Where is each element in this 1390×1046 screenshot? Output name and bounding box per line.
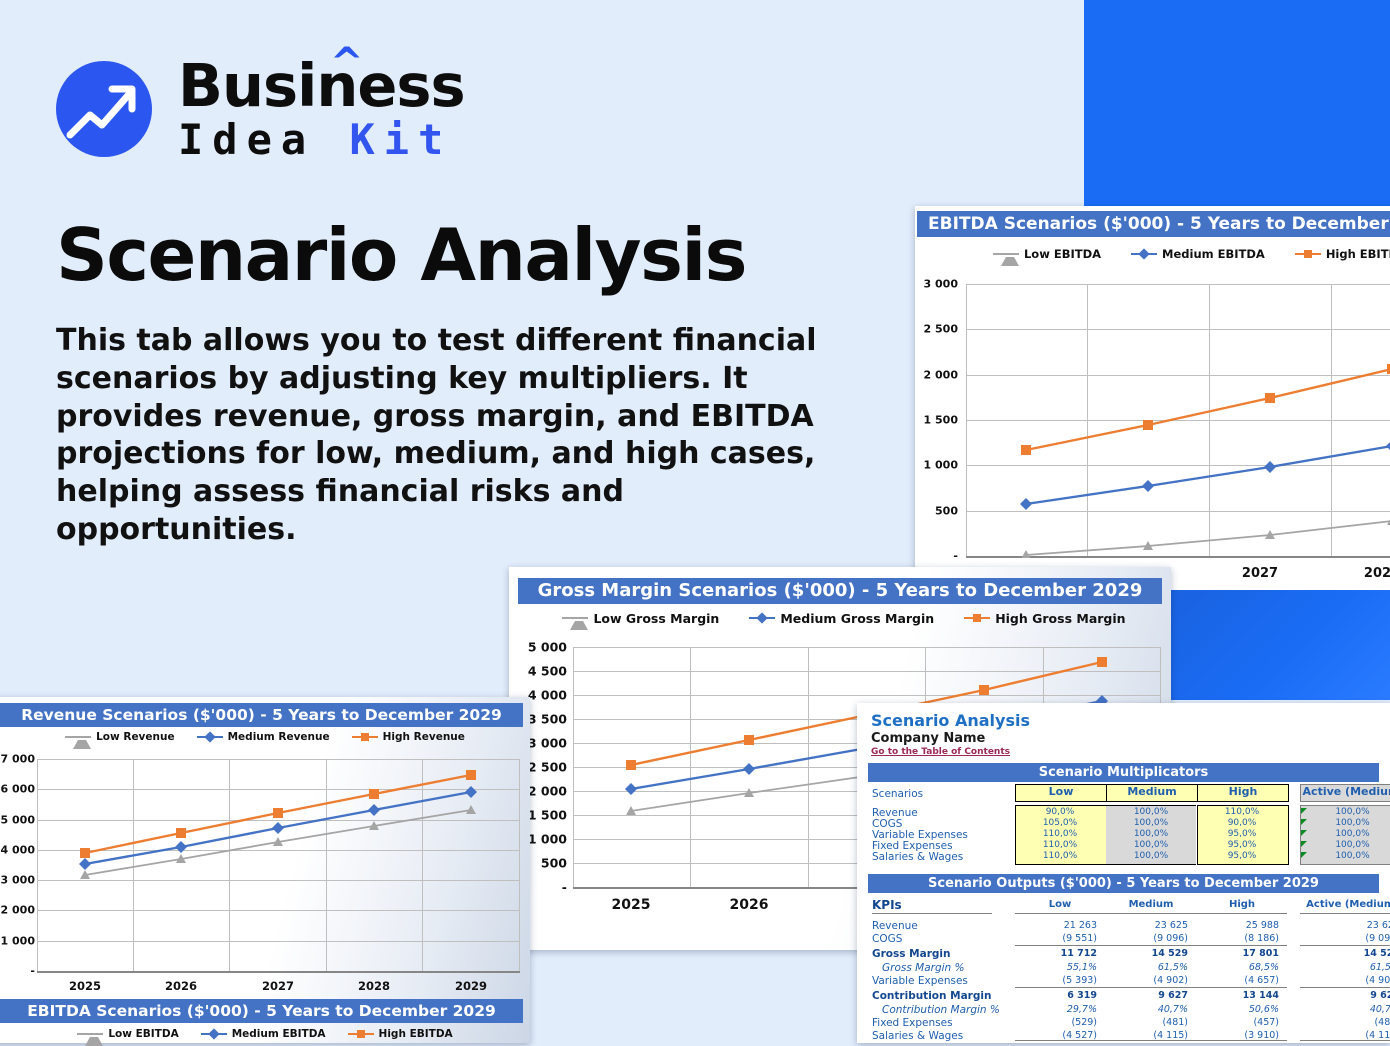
output-fixed-expenses-active: (481) — [1300, 1017, 1390, 1028]
legend-item-medium-ebitda: Medium EBITDA — [1131, 247, 1265, 261]
output-cogs-high: (8 186) — [1197, 933, 1279, 944]
multiplicator-fixedexp-low[interactable]: 110,0% — [1015, 840, 1105, 850]
revenue-chart-plot — [37, 759, 520, 973]
output-gross-margin-pct-medium: 61,5% — [1106, 962, 1188, 973]
revenue-chart-card: Revenue Scenarios ($'000) - 5 Years to D… — [0, 697, 530, 1043]
brand-name-line2: Idea — [178, 115, 315, 164]
scenario-analysis-panel: Scenario Analysis Company Name Go to the… — [857, 703, 1390, 1043]
output-row-contribution-margin-label: Contribution Margin — [872, 990, 991, 1002]
output-variable-expenses-active: (4 902) — [1300, 975, 1390, 986]
output-salaries-low: (4 527) — [1015, 1030, 1097, 1041]
medium-series-marker-icon — [197, 732, 223, 742]
high-series-marker-icon — [964, 613, 990, 623]
high-series-marker-icon — [352, 732, 378, 742]
company-name: Company Name — [871, 731, 985, 746]
legend-item-low-ebitda: Low EBITDA — [77, 1028, 178, 1040]
multiplicator-cogs-high[interactable]: 90,0% — [1197, 818, 1287, 828]
multiplicator-col-medium[interactable]: Medium — [1106, 784, 1198, 802]
medium-series-marker-icon — [749, 613, 775, 623]
multiplicator-cogs-active[interactable]: 100,0% — [1300, 818, 1390, 828]
outputs-col-high: High — [1197, 899, 1287, 910]
outputs-col-active: Active (Medium) — [1300, 899, 1390, 910]
output-row-gross-margin-pct-label: Gross Margin % — [872, 962, 965, 974]
revenue-chart-legend: Low Revenue Medium Revenue High Revenue — [80, 728, 450, 746]
legend-item-medium-revenue: Medium Revenue — [197, 731, 330, 743]
multiplicator-salaries-low[interactable]: 110,0% — [1015, 851, 1105, 861]
legend-item-low-gross-margin: Low Gross Margin — [562, 611, 719, 626]
multiplicator-salaries-active[interactable]: 100,0% — [1300, 851, 1390, 861]
high-series-marker-icon — [1295, 249, 1321, 259]
output-gross-margin-pct-high: 68,5% — [1197, 962, 1279, 973]
decorative-blue-block-mid — [1170, 590, 1390, 700]
growth-arrow-icon — [56, 61, 152, 157]
active-flag-icon — [1301, 808, 1307, 814]
output-row-revenue-label: Revenue — [872, 920, 918, 932]
outputs-col-low: Low — [1015, 899, 1105, 910]
active-flag-icon — [1301, 819, 1307, 825]
output-contribution-margin-medium: 9 627 — [1106, 990, 1188, 1001]
output-variable-expenses-medium: (4 902) — [1106, 975, 1188, 986]
output-gross-margin-low: 11 712 — [1015, 948, 1097, 959]
multiplicator-revenue-medium[interactable]: 100,0% — [1106, 807, 1196, 817]
outputs-row-header: KPIs — [872, 898, 902, 912]
high-series-marker-icon — [348, 1029, 374, 1039]
output-salaries-active: (4 115) — [1300, 1030, 1390, 1041]
output-row-cogs-label: COGS — [872, 933, 902, 945]
multiplicator-fixedexp-medium[interactable]: 100,0% — [1106, 840, 1196, 850]
active-flag-icon — [1301, 841, 1307, 847]
legend-item-low-revenue: Low Revenue — [65, 731, 175, 743]
multiplicator-col-low[interactable]: Low — [1015, 784, 1107, 802]
legend-item-high-ebitda: High EBITDA — [348, 1028, 453, 1040]
output-row-salaries-label: Salaries & Wages — [872, 1030, 963, 1042]
output-row-fixed-expenses-label: Fixed Expenses — [872, 1017, 953, 1029]
output-contribution-margin-pct-high: 50,6% — [1197, 1004, 1279, 1015]
ebitda-chart-top-y-axis: 3 000 2 500 2 000 1 500 1 000 500 - — [915, 284, 958, 556]
output-contribution-margin-active: 9 627 — [1300, 990, 1390, 1001]
scenario-panel-heading: Scenario Analysis — [871, 711, 1030, 730]
output-gross-margin-pct-low: 55,1% — [1015, 962, 1097, 973]
output-variable-expenses-high: (4 657) — [1197, 975, 1279, 986]
output-fixed-expenses-high: (457) — [1197, 1017, 1279, 1028]
medium-series-marker-icon — [1131, 249, 1157, 259]
ebitda-chart-top-legend: Low EBITDA Medium EBITDA High EBITDA — [965, 244, 1390, 264]
low-series-marker-icon — [562, 613, 588, 623]
output-fixed-expenses-medium: (481) — [1106, 1017, 1188, 1028]
brand-hat-accent: ^ — [330, 43, 363, 83]
multiplicator-varexp-high[interactable]: 95,0% — [1197, 829, 1287, 839]
output-contribution-margin-pct-active: 40,7% — [1300, 1004, 1390, 1015]
output-cogs-low: (9 551) — [1015, 933, 1097, 944]
legend-item-high-gross-margin: High Gross Margin — [964, 611, 1125, 626]
output-revenue-low: 21 263 — [1015, 920, 1097, 931]
multiplicator-col-active[interactable]: Active (Medium) — [1300, 784, 1390, 802]
output-gross-margin-pct-active: 61,5% — [1300, 962, 1390, 973]
output-salaries-medium: (4 115) — [1106, 1030, 1188, 1041]
multiplicator-cogs-low[interactable]: 105,0% — [1015, 818, 1105, 828]
multiplicator-row-salaries-label: Salaries & Wages — [872, 851, 963, 863]
multiplicator-varexp-medium[interactable]: 100,0% — [1106, 829, 1196, 839]
multiplicator-col-high[interactable]: High — [1197, 784, 1289, 802]
medium-series-marker-icon — [201, 1029, 227, 1039]
output-variable-expenses-low: (5 393) — [1015, 975, 1097, 986]
legend-item-medium-gross-margin: Medium Gross Margin — [749, 611, 934, 626]
legend-item-low-ebitda: Low EBITDA — [993, 247, 1101, 261]
low-series-marker-icon — [65, 732, 91, 742]
output-revenue-medium: 23 625 — [1106, 920, 1188, 931]
output-salaries-high: (3 910) — [1197, 1030, 1279, 1041]
multiplicator-revenue-low[interactable]: 90,0% — [1015, 807, 1105, 817]
decorative-blue-block-top — [1084, 0, 1390, 208]
output-cogs-medium: (9 096) — [1106, 933, 1188, 944]
gross-margin-chart-legend: Low Gross Margin Medium Gross Margin Hig… — [564, 608, 1124, 628]
multiplicator-varexp-low[interactable]: 110,0% — [1015, 829, 1105, 839]
multiplicators-row-header: Scenarios — [872, 788, 923, 800]
ebitda-chart-top-plot — [966, 284, 1390, 558]
ebitda-chart-bottom-legend: Low EBITDA Medium EBITDA High EBITDA — [80, 1025, 450, 1043]
active-flag-icon — [1301, 830, 1307, 836]
multiplicator-revenue-active[interactable]: 100,0% — [1300, 807, 1390, 817]
revenue-chart-title: Revenue Scenarios ($'000) - 5 Years to D… — [0, 703, 523, 727]
active-flag-icon — [1301, 852, 1307, 858]
output-row-variable-expenses-label: Variable Expenses — [872, 975, 968, 987]
legend-item-high-ebitda: High EBITDA — [1295, 247, 1390, 261]
output-cogs-active: (9 096) — [1300, 933, 1390, 944]
multiplicator-cogs-medium[interactable]: 100,0% — [1106, 818, 1196, 828]
output-gross-margin-high: 17 801 — [1197, 948, 1279, 959]
output-revenue-high: 25 988 — [1197, 920, 1279, 931]
output-contribution-margin-low: 6 319 — [1015, 990, 1097, 1001]
output-contribution-margin-pct-low: 29,7% — [1015, 1004, 1097, 1015]
multiplicator-varexp-active[interactable]: 100,0% — [1300, 829, 1390, 839]
page-title: Scenario Analysis — [56, 213, 746, 297]
brand-logo: Business ^ Idea Kit — [56, 56, 465, 161]
legend-item-high-revenue: High Revenue — [352, 731, 465, 743]
output-fixed-expenses-low: (529) — [1015, 1017, 1097, 1028]
legend-item-medium-ebitda: Medium EBITDA — [201, 1028, 326, 1040]
gross-margin-chart-title: Gross Margin Scenarios ($'000) - 5 Years… — [518, 578, 1162, 604]
multiplicator-fixedexp-active[interactable]: 100,0% — [1300, 840, 1390, 850]
ebitda-chart-bottom-title: EBITDA Scenarios ($'000) - 5 Years to De… — [0, 999, 523, 1023]
low-series-marker-icon — [77, 1029, 103, 1039]
brand-name-line1: Business — [178, 51, 465, 120]
output-row-contribution-margin-pct-label: Contribution Margin % — [872, 1004, 1000, 1016]
output-contribution-margin-high: 13 144 — [1197, 990, 1279, 1001]
page-description: This tab allows you to test different fi… — [56, 322, 856, 549]
ebitda-chart-top-title: EBITDA Scenarios ($'000) - 5 Years to De… — [917, 211, 1390, 237]
output-gross-margin-medium: 14 529 — [1106, 948, 1188, 959]
output-row-gross-margin-label: Gross Margin — [872, 948, 950, 960]
multiplicator-salaries-high[interactable]: 95,0% — [1197, 851, 1287, 861]
low-series-marker-icon — [993, 249, 1019, 259]
multiplicator-revenue-high[interactable]: 110,0% — [1197, 807, 1287, 817]
scenario-multiplicators-band: Scenario Multiplicators — [868, 763, 1379, 782]
table-of-contents-link[interactable]: Go to the Table of Contents — [871, 747, 1010, 757]
brand-name-kit: Kit — [349, 115, 452, 164]
multiplicator-salaries-medium[interactable]: 100,0% — [1106, 851, 1196, 861]
scenario-outputs-band: Scenario Outputs ($'000) - 5 Years to De… — [868, 874, 1379, 893]
revenue-chart-y-axis: 7 000 6 000 5 000 4 000 3 000 2 000 1 00… — [0, 759, 35, 971]
output-revenue-active: 23 625 — [1300, 920, 1390, 931]
outputs-col-medium: Medium — [1106, 899, 1196, 910]
output-contribution-margin-pct-medium: 40,7% — [1106, 1004, 1188, 1015]
ebitda-chart-top-card: EBITDA Scenarios ($'000) - 5 Years to De… — [915, 206, 1390, 591]
output-gross-margin-active: 14 529 — [1300, 948, 1390, 959]
multiplicator-fixedexp-high[interactable]: 95,0% — [1197, 840, 1287, 850]
